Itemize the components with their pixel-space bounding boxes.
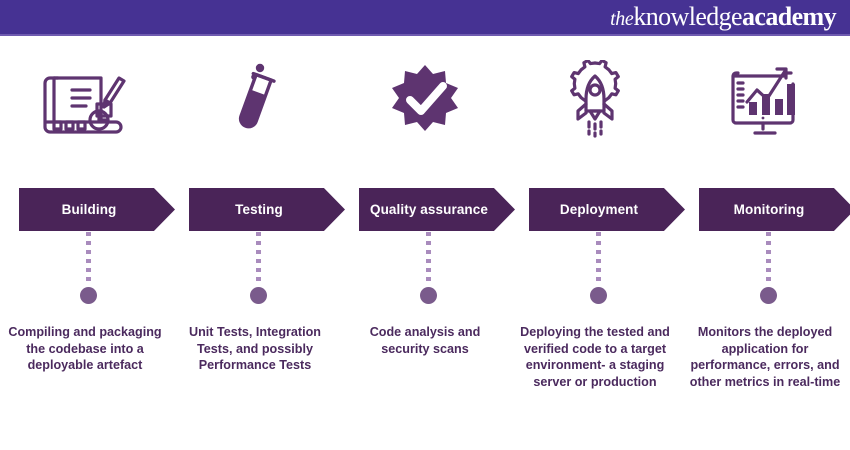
stage-banner-quality-assurance[interactable]: Quality assurance <box>359 188 515 231</box>
rocket-gear-icon <box>510 54 680 146</box>
stage-label: Monitoring <box>734 202 805 218</box>
badge-check-icon <box>340 54 510 146</box>
timeline-node-dot <box>420 287 437 304</box>
timeline-node-dot <box>250 287 267 304</box>
stage-label: Building <box>62 202 117 218</box>
connector-line <box>256 232 261 286</box>
stage-banner-building[interactable]: Building <box>19 188 175 231</box>
stage-description: Deploying the tested and verified code t… <box>516 324 674 391</box>
stage-building: Building Compiling and packaging the cod… <box>0 36 170 450</box>
logo-word-knowledge: knowledge <box>633 2 742 31</box>
blueprint-pencil-icon <box>0 54 170 146</box>
stage-description: Unit Tests, Integration Tests, and possi… <box>176 324 334 374</box>
pipeline-stages: Building Compiling and packaging the cod… <box>0 36 850 450</box>
timeline-node-dot <box>80 287 97 304</box>
stage-label: Deployment <box>560 202 638 218</box>
brand-logo: theknowledgeacademy <box>610 4 836 30</box>
connector-line <box>86 232 91 286</box>
stage-label: Quality assurance <box>370 202 488 218</box>
stage-description: Monitors the deployed application for pe… <box>686 324 844 391</box>
connector-line <box>596 232 601 286</box>
timeline-node-dot <box>590 287 607 304</box>
logo-word-academy: academy <box>742 2 836 31</box>
logo-word-the: the <box>610 8 633 30</box>
stage-description: Code analysis and security scans <box>346 324 504 357</box>
stage-quality-assurance: Quality assurance Code analysis and secu… <box>340 36 510 450</box>
stage-label: Testing <box>235 202 283 218</box>
timeline-node-dot <box>760 287 777 304</box>
connector-line <box>766 232 771 286</box>
stage-banner-testing[interactable]: Testing <box>189 188 345 231</box>
stage-monitoring: Monitoring Monitors the deployed applica… <box>680 36 850 450</box>
test-tube-icon <box>170 54 340 146</box>
monitor-chart-icon <box>680 54 850 146</box>
connector-line <box>426 232 431 286</box>
stage-banner-monitoring[interactable]: Monitoring <box>699 188 850 231</box>
page-header: theknowledgeacademy <box>0 0 850 36</box>
stage-testing: Testing Unit Tests, Integration Tests, a… <box>170 36 340 450</box>
stage-description: Compiling and packaging the codebase int… <box>6 324 164 374</box>
stage-banner-deployment[interactable]: Deployment <box>529 188 685 231</box>
stage-deployment: Deployment Deploying the tested and veri… <box>510 36 680 450</box>
